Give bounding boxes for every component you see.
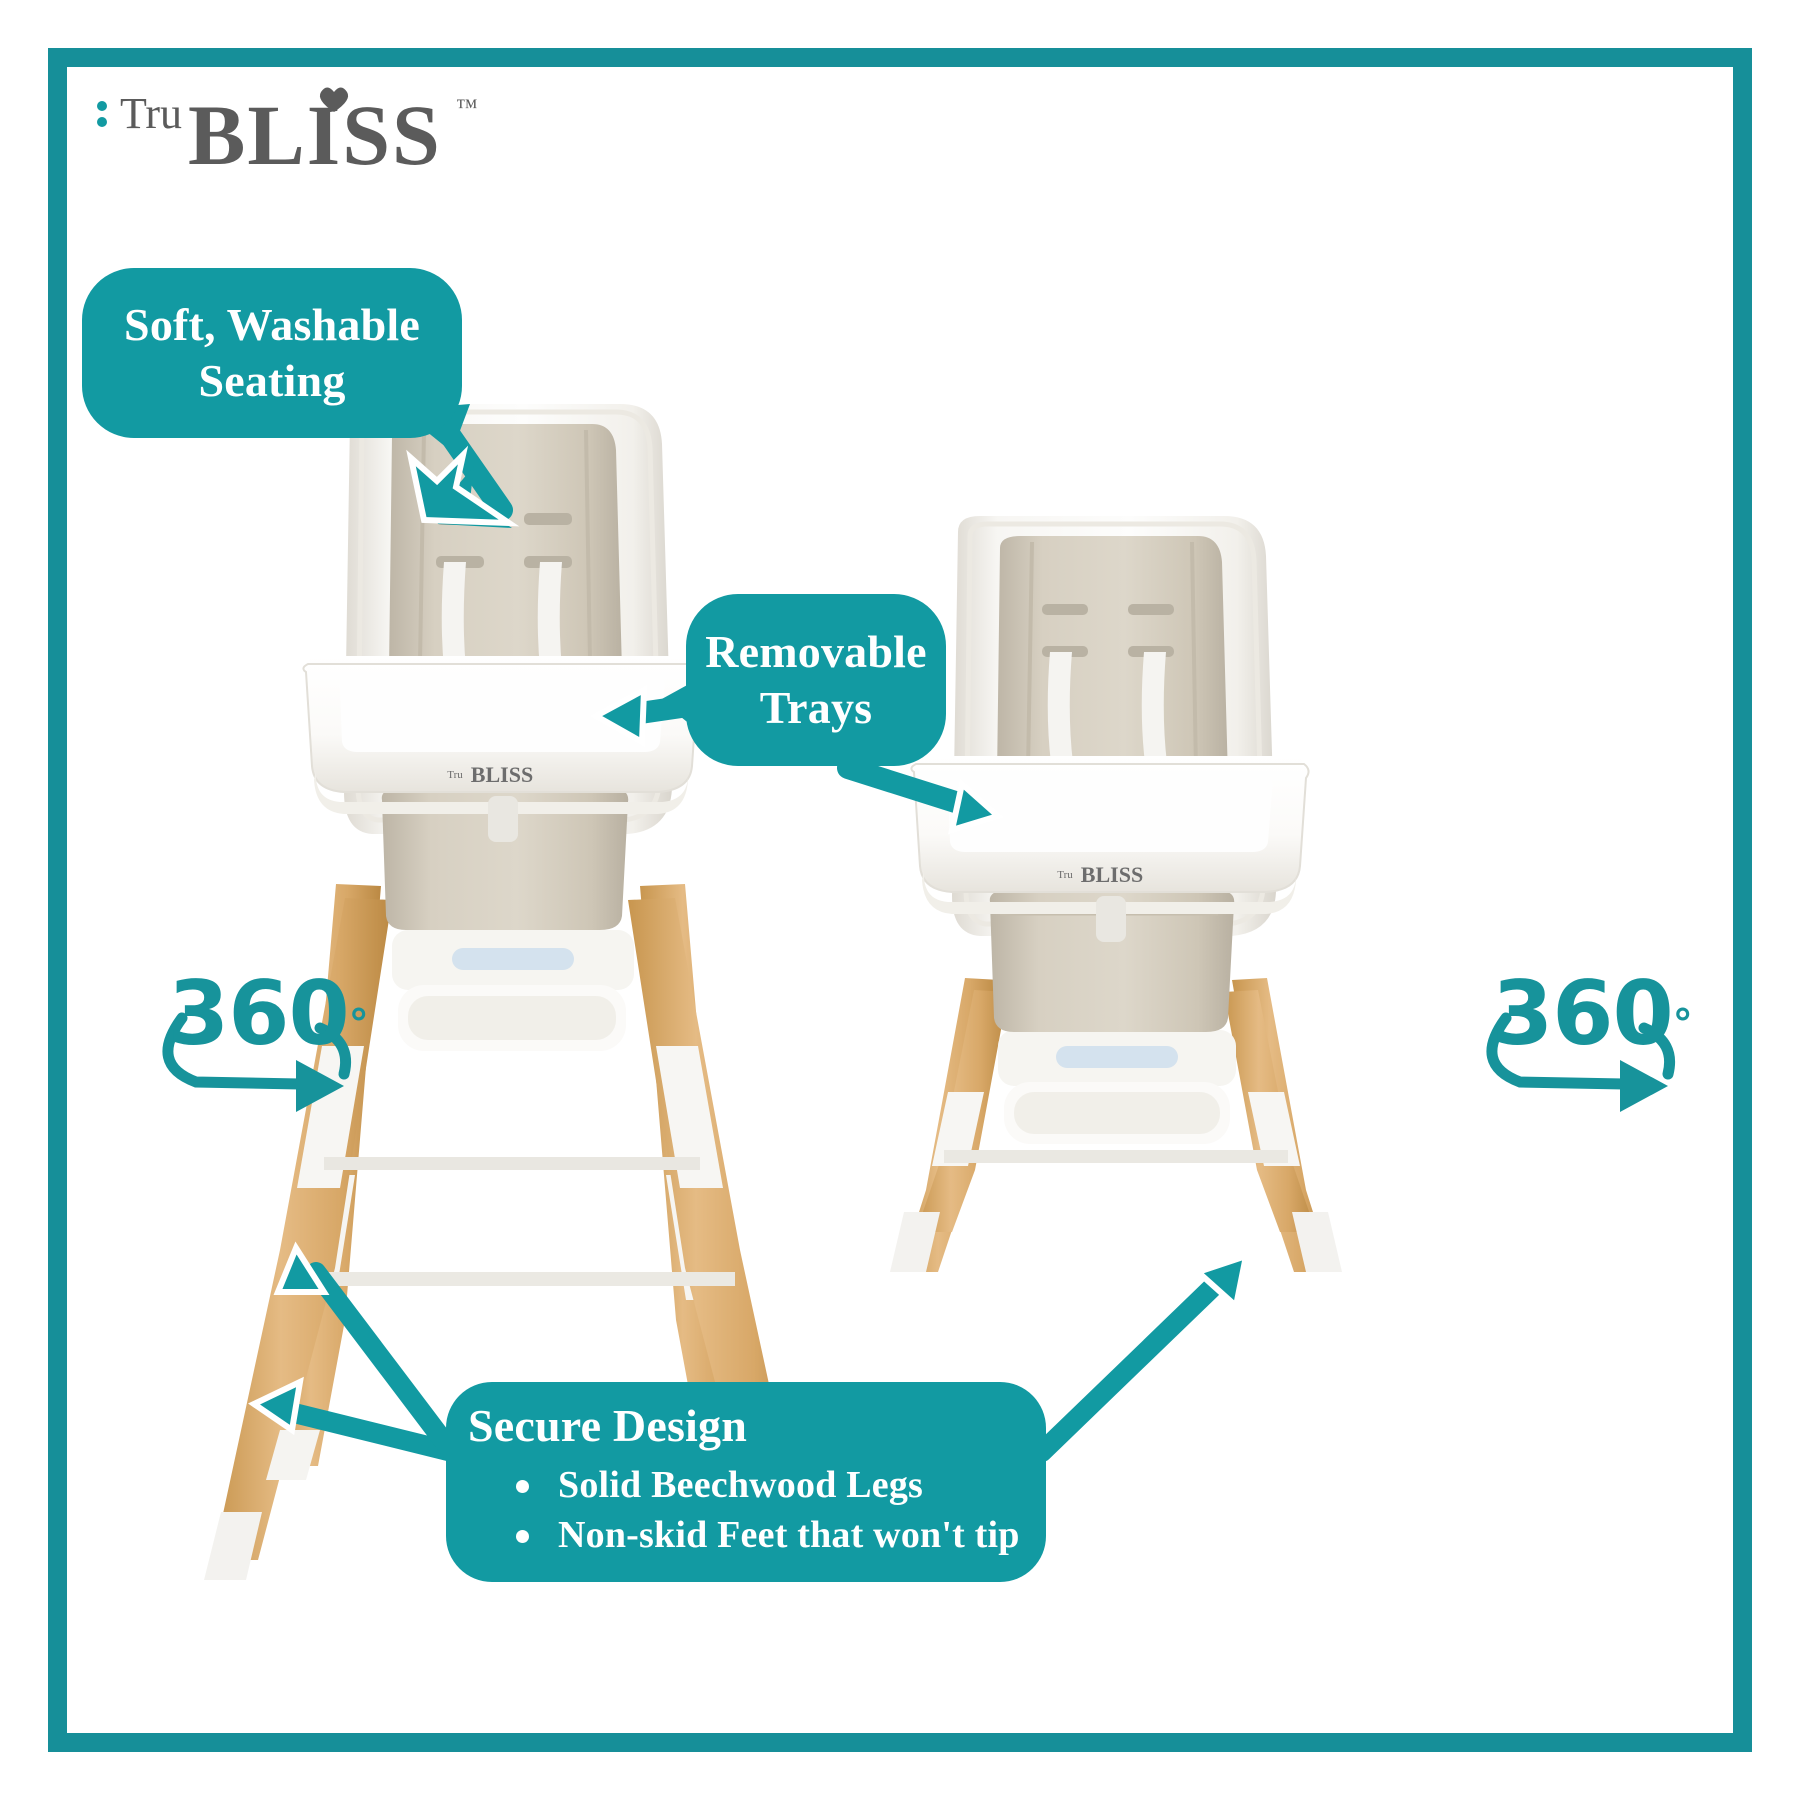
teal-border-frame: [48, 48, 1752, 1752]
infographic-canvas: BLISS Tru: [0, 0, 1800, 1800]
